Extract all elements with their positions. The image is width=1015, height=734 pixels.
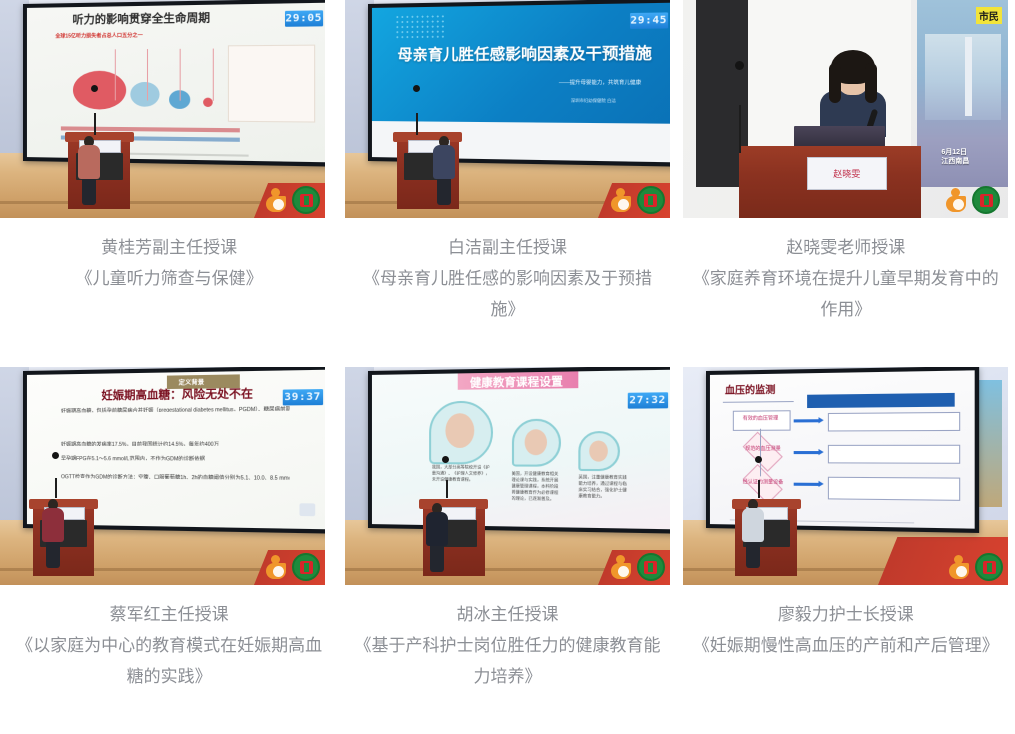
slide-bullet-4-2: 妊娠期高血糖的发病率17.5%，目前我国统计约14.5%，每年约400万: [61, 440, 290, 446]
portrait-face-3: [589, 440, 608, 461]
caption-5-speaker: 胡冰主任授课: [338, 599, 676, 630]
caption-1-speaker: 黄桂芳副主任授课: [0, 232, 338, 263]
flow-header-box: [807, 393, 955, 409]
microphone-stand-4: [55, 478, 57, 498]
caption-2-speaker: 白洁副主任授课: [338, 232, 676, 263]
gallery-cell-3: 市民 6月12日 江西南昌 赵晓雯: [677, 0, 1015, 325]
lecture-photo-liao-yili[interactable]: 血压的监测 有效的血压管理 规范的血压测量 经认证的测量设备: [683, 367, 1008, 585]
speaker-1: [78, 136, 100, 205]
caption-6-speaker: 廖毅力护士长授课: [677, 599, 1015, 630]
flow-text-box-3: [828, 477, 960, 500]
podium-nameplate-3: 赵晓雯: [807, 157, 887, 190]
flow-arrow-2: [794, 451, 820, 454]
green-health-emblem-icon: [637, 553, 665, 581]
caption-4: 蔡军红主任授课 《以家庭为中心的教育模式在妊娠期高血糖的实践》: [0, 585, 338, 692]
slide-logo-4: [299, 504, 315, 517]
slide-health-education-curriculum: 健康教育课程设置 我国，大部分高等院校开设《护患沟通》、《护理人文修养》，未开设…: [372, 370, 670, 530]
slide-title-4: 妊娠期高血糖：风险无处不在: [101, 385, 253, 403]
orange-person-icon: [610, 188, 632, 212]
speaker-5: [426, 503, 448, 572]
caption-4-speaker: 蔡军红主任授课: [0, 599, 338, 630]
slide-title-2: 母亲育儿胜任感影响因素及干预措施: [397, 42, 651, 65]
slide-subtitle-1: 全球15亿听力损失者占总人口五分之一: [55, 32, 143, 40]
green-health-emblem-icon: [975, 553, 1003, 581]
lecture-photo-zhao-xiaowen[interactable]: 市民 6月12日 江西南昌 赵晓雯: [683, 0, 1008, 218]
orange-person-icon: [265, 188, 287, 212]
caption-1-topic: 《儿童听力筛查与保健》: [0, 263, 338, 294]
photo-wrap-2: 母亲育儿胜任感影响因素及干预措施 ——提升母婴能力，共筑育儿健康 深圳市妇幼保健…: [338, 0, 676, 218]
nameplate-text: 赵晓雯: [833, 167, 860, 180]
slide-byline-2: 深圳市妇幼保健院 白洁: [571, 98, 616, 105]
gallery-cell-6: 血压的监测 有效的血压管理 规范的血压测量 经认证的测量设备: [677, 367, 1015, 692]
slide-timer-5: 27:32: [627, 393, 667, 409]
gallery-cell-5: 健康教育课程设置 我国，大部分高等院校开设《护患沟通》、《护理人文修养》，未开设…: [338, 367, 676, 692]
slide-title-6: 血压的监测: [725, 382, 775, 398]
portrait-bubble-1: [429, 401, 493, 465]
caption-2: 白洁副主任授课 《母亲育儿胜任感的影响因素及于预措施》: [338, 218, 676, 325]
speaker-2: [433, 136, 455, 205]
slide-timer-2: 29:45: [629, 12, 667, 28]
slide-title-5: 健康教育课程设置: [470, 374, 563, 392]
green-health-emblem-icon: [637, 186, 665, 214]
slide-side-pictogram: [228, 45, 315, 123]
portrait-bubble-3: [578, 431, 620, 471]
tv-bridge-pillar: [965, 37, 972, 116]
portrait-text-3: 英国，注重健康教育实践能力培养，通过课程与临床实习结合，强化护士健康教育能力。: [578, 475, 628, 507]
flow-text-box-1: [828, 412, 960, 432]
caption-4-topic: 《以家庭为中心的教育模式在妊娠期高血糖的实践》: [0, 630, 338, 692]
microphone-stand-5: [446, 480, 448, 498]
caption-3-topic: 《家庭养育环境在提升儿童早期发育中的作用》: [677, 263, 1015, 325]
speaker-6: [742, 499, 764, 568]
portrait-text-2: 美国，开设健康教育相关理论课与实践，系统开展健康管理课程，本科阶段将健康教育作为…: [511, 471, 560, 505]
orange-person-icon: [948, 555, 970, 579]
watermark-group-6: [948, 553, 1003, 581]
connector-line-vertical: [760, 429, 761, 477]
slide-bullet-4-3: 早孕期FPG在5.1～5.6 mmol/L范围内，不作为GDM的诊断依据: [61, 456, 290, 462]
microphone-stand-1: [94, 113, 96, 135]
caption-2-topic: 《母亲育儿胜任感的影响因素及于预措施》: [338, 263, 676, 325]
flow-node-2-label: 规范的血压测量: [738, 445, 789, 452]
watermark-group-2: [610, 186, 665, 214]
caption-6-topic: 《妊娠期慢性高血压的产前和产后管理》: [677, 630, 1015, 661]
lecture-photo-gallery: 听力的影响贯穿全生命周期 全球15亿听力损失者占总人口五分之一: [0, 0, 1015, 692]
lecture-photo-hu-bing[interactable]: 健康教育课程设置 我国，大部分高等院校开设《护患沟通》、《护理人文修养》，未开设…: [345, 367, 670, 585]
portrait-bubble-2: [511, 419, 560, 467]
watermark-group-5: [610, 553, 665, 581]
slide-bullet-4-4: OGTT检查作为GDM的诊断方法：空腹、口服葡萄糖1h、2h的血糖阈值分别为5.…: [61, 474, 290, 481]
microphone-head-2: [413, 85, 420, 92]
caption-3-speaker: 赵晓雯老师授课: [677, 232, 1015, 263]
microphone-head-4: [52, 452, 59, 459]
gallery-cell-4: 定义背景 妊娠期高血糖：风险无处不在 妊娠期高血糖，包括孕前糖尿病合并妊娠（pr…: [0, 367, 338, 692]
speaker-head: [836, 55, 870, 95]
lecture-photo-cai-junhong[interactable]: 定义背景 妊娠期高血糖：风险无处不在 妊娠期高血糖，包括孕前糖尿病合并妊娠（pr…: [0, 367, 325, 585]
flow-node-1-label: 有效的血压管理: [735, 415, 786, 422]
tv-banner-title: 市民: [976, 7, 1002, 24]
caption-1: 黄桂芳副主任授课 《儿童听力筛查与保健》: [0, 218, 338, 294]
green-health-emblem-icon: [292, 553, 320, 581]
microphone-stand-2: [416, 113, 418, 135]
slide-dot-pattern: [394, 15, 446, 40]
microphone-head-1: [91, 85, 98, 92]
watermark-group-4: [265, 553, 320, 581]
watermark-group-3: [945, 186, 1000, 214]
flow-node-3-label: 经认证的测量设备: [738, 478, 789, 485]
watermark-group-1: [265, 186, 320, 214]
slide-footnote: [113, 152, 249, 156]
photo-wrap-1: 听力的影响贯穿全生命周期 全球15亿听力损失者占总人口五分之一: [0, 0, 338, 218]
microphone-stand-3: [739, 105, 741, 153]
microphone-head-6: [755, 456, 762, 463]
slide-timer-1: 29:05: [284, 11, 322, 28]
gallery-cell-2: 母亲育儿胜任感影响因素及干预措施 ——提升母婴能力，共筑育儿健康 深圳市妇幼保健…: [338, 0, 676, 325]
gallery-cell-1: 听力的影响贯穿全生命周期 全球15亿听力损失者占总人口五分之一: [0, 0, 338, 325]
flow-arrow-3: [794, 483, 820, 486]
lecture-photo-huang-guifang[interactable]: 听力的影响贯穿全生命周期 全球15亿听力损失者占总人口五分之一: [0, 0, 325, 218]
flow-text-box-2: [828, 445, 960, 464]
portrait-face-1: [445, 413, 474, 448]
photo-wrap-6: 血压的监测 有效的血压管理 规范的血压测量 经认证的测量设备: [677, 367, 1015, 585]
slide-bullet-4-1: 妊娠期高血糖，包括孕前糖尿病合并妊娠（pregestational diabet…: [61, 406, 290, 413]
speaker-4: [42, 499, 64, 568]
tv-banner-date: 6月12日 江西南昌: [941, 148, 969, 166]
photo-wrap-4: 定义背景 妊娠期高血糖：风险无处不在 妊娠期高血糖，包括孕前糖尿病合并妊娠（pr…: [0, 367, 338, 585]
orange-person-icon: [610, 555, 632, 579]
speaker-portrait: [820, 55, 886, 137]
led-screen-5: 健康教育课程设置 我国，大部分高等院校开设《护患沟通》、《护理人文修养》，未开设…: [368, 367, 670, 534]
green-health-emblem-icon: [292, 186, 320, 214]
slide-title-1: 听力的影响贯穿全生命周期: [72, 10, 210, 28]
lecture-photo-bai-jie[interactable]: 母亲育儿胜任感影响因素及干预措施 ——提升母婴能力，共筑育儿健康 深圳市妇幼保健…: [345, 0, 670, 218]
photo-wrap-5: 健康教育课程设置 我国，大部分高等院校开设《护患沟通》、《护理人文修养》，未开设…: [338, 367, 676, 585]
slide-title-underline-6: [723, 401, 794, 403]
flow-arrow-1: [794, 419, 820, 422]
tv-bridge-graphic: [925, 34, 1001, 120]
slide-subtitle-2: ——提升母婴能力，共筑育儿健康: [559, 80, 641, 87]
caption-5-topic: 《基于产科护士岗位胜任力的健康教育能力培养》: [338, 630, 676, 692]
caption-3: 赵晓雯老师授课 《家庭养育环境在提升儿童早期发育中的作用》: [677, 218, 1015, 325]
photo-wrap-3: 市民 6月12日 江西南昌 赵晓雯: [677, 0, 1015, 218]
slide-timer-4: 39:37: [282, 389, 322, 405]
microphone-stand-6: [758, 480, 760, 498]
caption-6: 廖毅力护士长授课 《妊娠期慢性高血压的产前和产后管理》: [677, 585, 1015, 661]
orange-person-icon: [265, 555, 287, 579]
green-health-emblem-icon: [972, 186, 1000, 214]
portrait-face-2: [524, 429, 546, 455]
caption-5: 胡冰主任授课 《基于产科护士岗位胜任力的健康教育能力培养》: [338, 585, 676, 692]
orange-person-icon: [945, 188, 967, 212]
